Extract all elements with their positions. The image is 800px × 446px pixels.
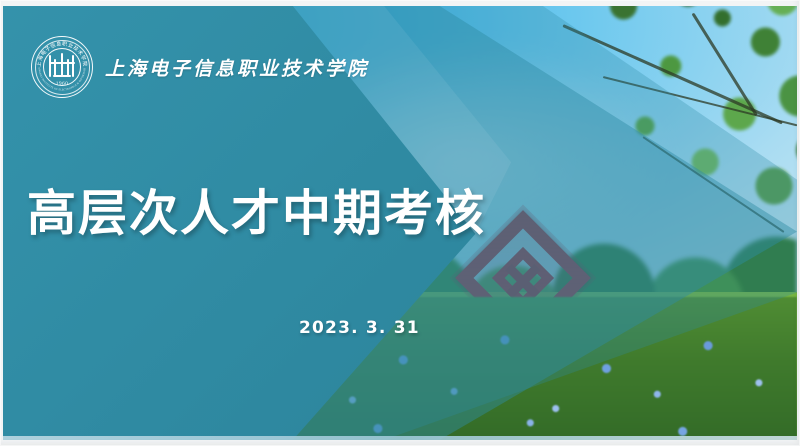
seal-founding-year: 1960 [31,81,93,87]
bottom-accent-strip [3,436,797,440]
presentation-date: 2023. 3. 31 [299,318,420,338]
institution-name: 上海电子信息职业技术学院 [105,54,369,81]
university-seal-logo: 上海电子信息职业技术学院 SHANGHAI INSTITUTE OF ELECT… [31,36,93,98]
slide-artboard: 上海电子信息职业技术学院 SHANGHAI INSTITUTE OF ELECT… [3,6,797,440]
seal-monogram [49,53,75,79]
presentation-slide: 上海电子信息职业技术学院 SHANGHAI INSTITUTE OF ELECT… [0,0,800,446]
page-title: 高层次人才中期考核 [27,188,486,239]
institution-header: 上海电子信息职业技术学院 SHANGHAI INSTITUTE OF ELECT… [31,36,369,98]
